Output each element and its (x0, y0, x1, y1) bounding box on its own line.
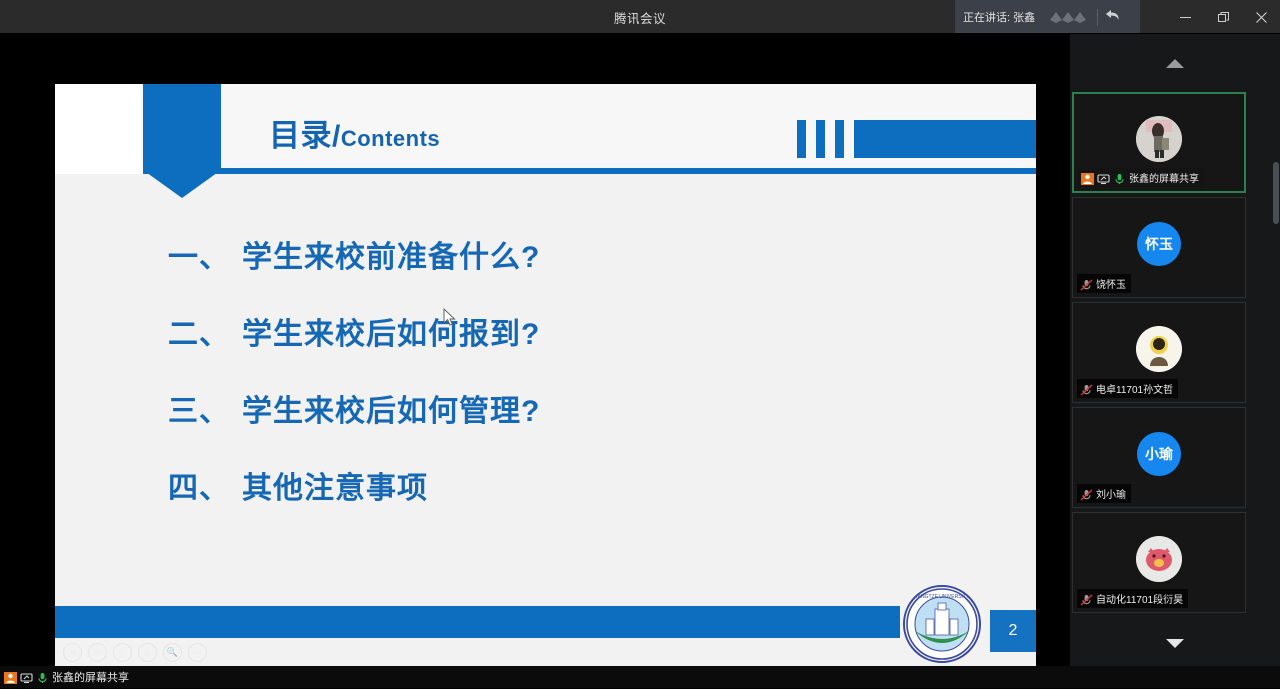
participant-name: 自动化11701段衍昊 (1096, 591, 1183, 606)
participant-tile[interactable]: 电卓11701孙文哲 (1072, 302, 1246, 403)
contents-list: 一、学生来校前准备什么? 二、学生来校后如何报到? 三、学生来校后如何管理? 四… (168, 232, 928, 540)
header-decoration (797, 120, 1036, 158)
yangtze-university-logo: YANGTZE UNIVERSITY (903, 585, 981, 663)
participant-tile[interactable]: 小瑜 刘小瑜 (1072, 407, 1246, 508)
list-item: 二、学生来校后如何报到? (168, 309, 928, 353)
header-tab-pointer (143, 170, 221, 198)
pill-divider (1097, 9, 1098, 26)
svg-text:YANGTZE UNIVERSITY: YANGTZE UNIVERSITY (915, 594, 970, 600)
list-item-label: 学生来校后如何报到? (242, 318, 540, 351)
rail-scrollbar[interactable] (1273, 162, 1279, 224)
participant-name: 刘小瑜 (1096, 486, 1126, 501)
screen-share-icon[interactable] (20, 671, 33, 683)
list-item: 三、学生来校后如何管理? (168, 386, 928, 430)
more-options-button[interactable]: ••• (188, 643, 207, 662)
microphone-muted-icon (1080, 383, 1093, 395)
deco-block (854, 120, 1036, 158)
list-item-label: 其他注意事项 (242, 472, 428, 505)
avatar: 小瑜 (1137, 432, 1181, 476)
deco-bar-1 (797, 120, 806, 158)
chevron-down-icon (1166, 639, 1184, 648)
participant-name: 张鑫的屏幕共享 (1129, 170, 1199, 185)
participant-label: 自动化11701段衍昊 (1077, 589, 1188, 608)
list-item-number: 一、 (168, 241, 230, 274)
header-rule-gap (55, 168, 143, 174)
minimize-button[interactable] (1166, 0, 1204, 34)
participant-rail: 张鑫的屏幕共享 怀玉 饶怀玉 (1070, 34, 1280, 666)
list-item-number: 三、 (168, 395, 230, 428)
close-button[interactable] (1242, 0, 1280, 34)
host-icon (1081, 172, 1094, 184)
speaking-indicator-pill[interactable]: 正在讲话: 张鑫 (955, 0, 1140, 34)
participant-name: 饶怀玉 (1096, 276, 1126, 291)
previous-slide-button[interactable]: ◀ (63, 643, 82, 662)
taskbar: 张鑫的屏幕共享 (0, 666, 1280, 688)
microphone-muted-icon (1080, 488, 1093, 500)
maximize-restore-button[interactable] (1204, 0, 1242, 34)
deco-bar-2 (816, 120, 825, 158)
shared-screen-stage: 目录/Contents 一、学生来校前准备什么? 二、学生来校后如何报到? 三、… (0, 34, 1070, 666)
slide-title: 目录/Contents (269, 110, 440, 155)
taskbar-label: 张鑫的屏幕共享 (52, 669, 129, 685)
slide-title-en: Contents (341, 126, 440, 151)
participant-tile[interactable]: 自动化11701段衍昊 (1072, 512, 1246, 613)
list-item-label: 学生来校前准备什么? (242, 241, 540, 274)
slide-title-slash: / (332, 120, 341, 153)
list-item-number: 二、 (168, 318, 230, 351)
presentation-slide[interactable]: 目录/Contents 一、学生来校前准备什么? 二、学生来校后如何报到? 三、… (55, 84, 1036, 672)
participant-label: 张鑫的屏幕共享 (1078, 168, 1204, 187)
microphone-muted-icon (1080, 593, 1093, 605)
host-icon (4, 671, 17, 683)
list-item-label: 学生来校后如何管理? (242, 395, 540, 428)
microphone-muted-icon (1080, 278, 1093, 290)
participant-tiles: 张鑫的屏幕共享 怀玉 饶怀玉 (1072, 92, 1268, 617)
participant-name: 电卓11701孙文哲 (1096, 381, 1173, 396)
avatar (1136, 536, 1182, 582)
participant-tile[interactable]: 张鑫的屏幕共享 (1072, 92, 1246, 193)
deco-bar-3 (835, 120, 844, 158)
list-item: 四、其他注意事项 (168, 463, 928, 507)
microphone-active-icon[interactable] (36, 671, 49, 683)
rail-scroll-down-button[interactable] (1070, 630, 1280, 656)
list-item-number: 四、 (168, 472, 230, 505)
all-slides-button[interactable]: ▦ (138, 643, 157, 662)
participant-label: 电卓11701孙文哲 (1077, 379, 1178, 398)
list-item: 一、学生来校前准备什么? (168, 232, 928, 276)
audio-wave-icon (1048, 9, 1090, 25)
rail-scroll-up-button[interactable] (1070, 50, 1280, 76)
header-blue-tab (143, 84, 221, 170)
window-controls (1166, 0, 1280, 34)
avatar (1136, 326, 1182, 372)
screen-share-icon (1097, 172, 1110, 184)
zoom-button[interactable]: 🔍 (163, 643, 182, 662)
app-title: 腾讯会议 (614, 8, 666, 27)
avatar: 怀玉 (1137, 222, 1181, 266)
slide-page-number: 2 (990, 610, 1036, 652)
chevron-up-icon (1166, 59, 1184, 68)
mouse-cursor-icon (443, 308, 457, 333)
header-left-white-block (55, 84, 141, 170)
participant-label: 刘小瑜 (1077, 484, 1131, 503)
participant-tile[interactable]: 怀玉 饶怀玉 (1072, 197, 1246, 298)
speaking-label: 正在讲话: 张鑫 (963, 9, 1035, 25)
participant-label: 饶怀玉 (1077, 274, 1131, 293)
slide-title-cn: 目录 (269, 118, 332, 153)
presenter-controls[interactable]: ◀ ▶ ✎ ▦ 🔍 ••• (63, 643, 207, 662)
next-slide-button[interactable]: ▶ (88, 643, 107, 662)
microphone-active-icon (1113, 172, 1126, 184)
pen-tool-button[interactable]: ✎ (113, 643, 132, 662)
avatar (1136, 116, 1182, 162)
return-arrow-icon[interactable] (1105, 8, 1121, 27)
slide-footer-bar (55, 606, 1036, 638)
